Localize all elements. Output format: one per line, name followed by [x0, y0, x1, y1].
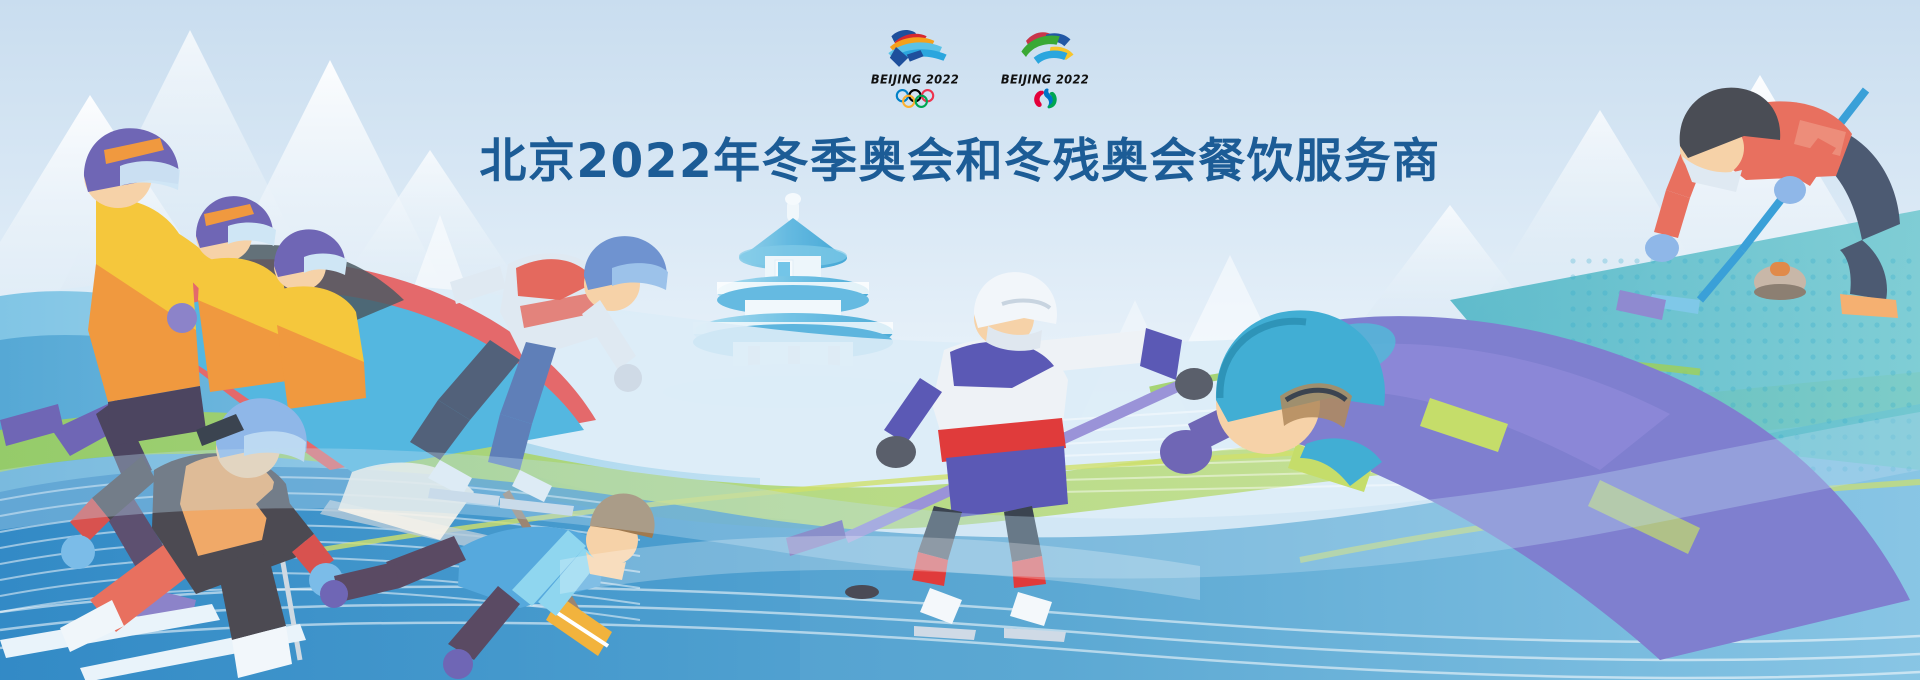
banner-root: BEIJING 2022 BEIJING 2022 [0, 0, 1920, 680]
beijing-2022-winter-emblem-icon [873, 24, 957, 70]
beijing-2022-paralympic-emblem-icon [1003, 24, 1087, 70]
olympic-wordmark: BEIJING 2022 [871, 71, 959, 86]
page-title: 北京2022年冬季奥会和冬残奥会餐饮服务商 [0, 122, 1920, 191]
olympic-rings-icon [894, 88, 936, 109]
agitos-icon [1024, 88, 1066, 109]
emblem-group: BEIJING 2022 BEIJING 2022 [860, 24, 1100, 124]
paralympic-wordmark: BEIJING 2022 [1001, 71, 1089, 86]
emblem-paralympic: BEIJING 2022 [993, 24, 1097, 124]
emblem-olympic: BEIJING 2022 [863, 24, 967, 124]
